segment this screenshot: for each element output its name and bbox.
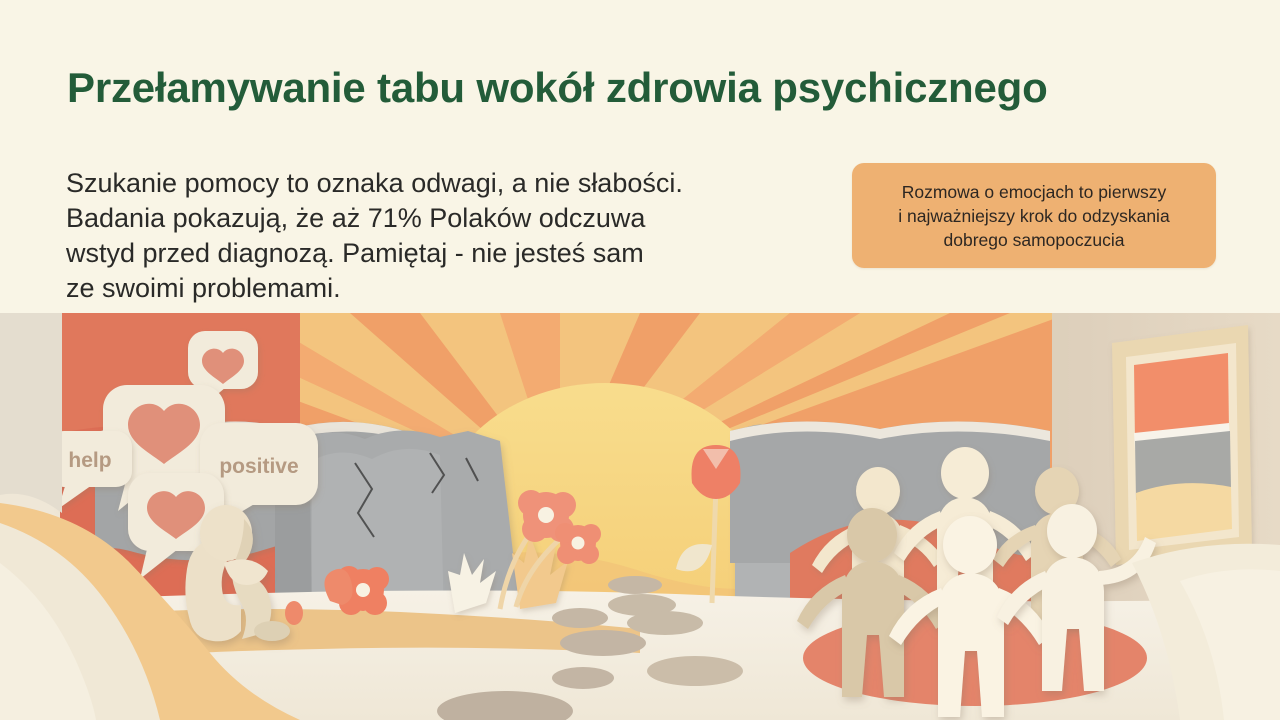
callout-box: Rozmowa o emocjach to pierwszy i najważn… [852,163,1216,268]
wall-picture [1112,325,1252,565]
callout-line-1: Rozmowa o emocjach to pierwszy [898,180,1169,204]
body-line-1: Szukanie pomocy to oznaka odwagi, a nie … [66,166,826,201]
left-edge-strip [0,313,62,513]
stepping-stone [627,611,703,635]
stepping-stone [647,656,743,686]
callout-line-2: i najważniejszy krok do odzyskania [898,204,1169,228]
speech-bubble-positive-label: positive [219,455,298,478]
speech-bubble-help-label: help [68,449,111,472]
body-line-4: ze swoimi problemami. [66,271,826,306]
tulip-bud-small [285,601,303,625]
flower-coral [555,523,601,564]
stepping-stone [560,630,646,656]
page-title: Przełamywanie tabu wokół zdrowia psychic… [67,64,1048,112]
seated-person-foot [254,621,290,641]
body-line-3: wstyd przed diagnozą. Pamiętaj - nie jes… [66,236,826,271]
header-panel: Przełamywanie tabu wokół zdrowia psychic… [0,0,1280,313]
stepping-stone [608,576,662,594]
slide-root: Przełamywanie tabu wokół zdrowia psychic… [0,0,1280,720]
papercraft-illustration: help positive [0,313,1280,720]
callout-text: Rozmowa o emocjach to pierwszy i najważn… [898,180,1169,252]
body-copy: Szukanie pomocy to oznaka odwagi, a nie … [66,166,826,306]
callout-line-3: dobrego samopoczucia [898,228,1169,252]
body-line-2: Badania pokazują, że aż 71% Polaków odcz… [66,201,826,236]
stepping-stone [552,667,614,689]
stepping-stone [552,608,608,628]
